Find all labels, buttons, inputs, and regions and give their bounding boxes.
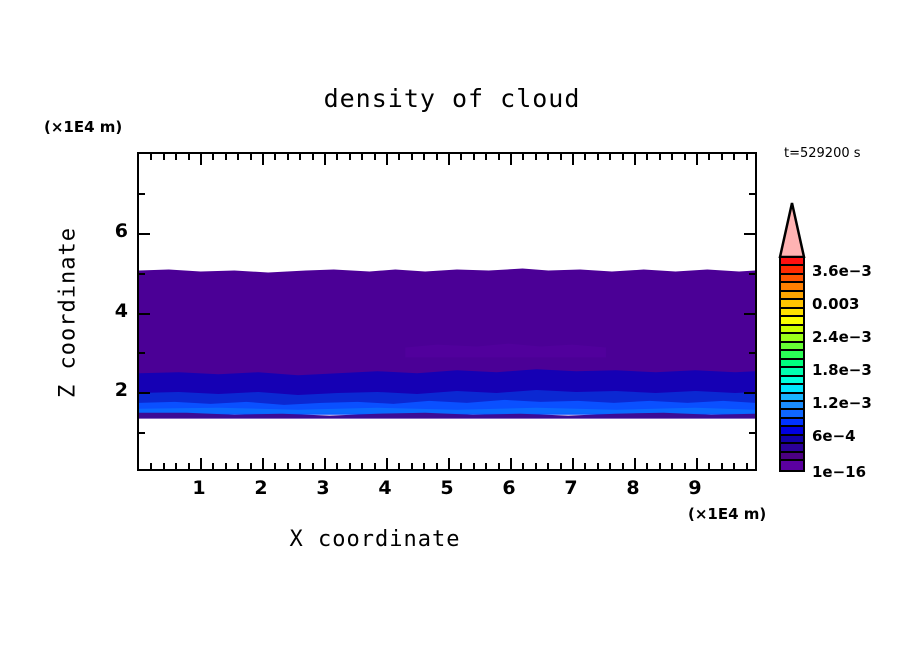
x-axis-title: X coordinate [0,527,750,552]
x-axis-minor-tick-top [584,154,586,160]
colorbar-segment [781,394,803,402]
colorbar-segment [781,317,803,325]
x-axis-minor-tick-top [237,154,239,160]
x-axis-minor-tick-top [684,154,686,160]
y-axis-tick [139,352,145,354]
y-axis-tick-right [749,432,755,434]
x-axis-units-label: (×1E4 m) [688,505,766,523]
x-axis-minor-tick-top [746,154,748,160]
x-axis-minor-tick [485,463,487,469]
x-axis-minor-tick-top [188,154,190,160]
y-axis-tick-label: 4 [98,300,128,322]
x-axis-tick-top [448,154,450,165]
colorbar-tick-label: 1e−16 [812,463,866,481]
x-axis-minor-tick [498,463,500,469]
x-axis-minor-tick [560,463,562,469]
x-axis-minor-tick [225,463,227,469]
colorbar-segment [781,453,803,461]
x-axis-minor-tick [336,463,338,469]
x-axis-minor-tick-top [312,154,314,160]
colorbar-segment [781,402,803,410]
x-axis-minor-tick [299,463,301,469]
x-axis-tick [262,458,264,469]
colorbar-tick-label: 1.8e−3 [812,361,872,379]
x-axis-minor-tick-top [411,154,413,160]
x-axis-minor-tick [646,463,648,469]
x-axis-minor-tick-top [473,154,475,160]
colorbar-tick-label: 6e−4 [812,427,856,445]
x-axis-tick [386,458,388,469]
colorbar-segment [781,410,803,418]
x-axis-tick-top [696,154,698,165]
colorbar-arrow-top [777,202,807,258]
colorbar-segment [781,419,803,427]
x-axis-minor-tick [584,463,586,469]
colorbar-segment [781,326,803,334]
x-axis-tick-label: 1 [184,477,214,499]
x-axis-minor-tick [473,463,475,469]
x-axis-minor-tick [349,463,351,469]
y-axis-tick-right [744,233,755,235]
y-axis-tick [139,193,145,195]
x-axis-minor-tick-top [175,154,177,160]
x-axis-minor-tick [708,463,710,469]
x-axis-minor-tick-top [733,154,735,160]
x-axis-minor-tick-top [708,154,710,160]
x-axis-minor-tick-top [349,154,351,160]
x-axis-tick-label: 5 [432,477,462,499]
colorbar-segment [781,351,803,359]
x-axis-tick-label: 3 [308,477,338,499]
x-axis-minor-tick [423,463,425,469]
x-axis-minor-tick-top [287,154,289,160]
x-axis-tick-top [262,154,264,165]
x-axis-minor-tick [684,463,686,469]
colorbar-segment [781,385,803,393]
colorbar-segment [781,283,803,291]
x-axis-minor-tick-top [522,154,524,160]
y-axis-tick-right [749,193,755,195]
x-axis-minor-tick [150,463,152,469]
x-axis-minor-tick [398,463,400,469]
x-axis-minor-tick-top [274,154,276,160]
colorbar-tick-label: 1.2e−3 [812,394,872,412]
x-axis-tick-top [324,154,326,165]
x-axis-tick [448,458,450,469]
x-axis-minor-tick [671,463,673,469]
x-axis-minor-tick-top [299,154,301,160]
x-axis-minor-tick [622,463,624,469]
x-axis-minor-tick-top [225,154,227,160]
x-axis-minor-tick [659,463,661,469]
colorbar-segment [781,368,803,376]
x-axis-minor-tick-top [361,154,363,160]
x-axis-tick [572,458,574,469]
colorbar-segment [781,377,803,385]
y-axis-tick-label: 6 [98,220,128,242]
x-axis-tick-label: 2 [246,477,276,499]
y-axis-tick [139,273,145,275]
x-axis-minor-tick [237,463,239,469]
colorbar-segment [781,266,803,274]
x-axis-tick-label: 6 [494,477,524,499]
colorbar-segment [781,292,803,300]
x-axis-tick [634,458,636,469]
colorbar-segment [781,275,803,283]
x-axis-minor-tick [312,463,314,469]
y-axis-tick-right [744,313,755,315]
y-axis-tick [139,432,145,434]
x-axis-minor-tick [522,463,524,469]
x-axis-tick [200,458,202,469]
x-axis-minor-tick-top [671,154,673,160]
x-axis-minor-tick [374,463,376,469]
page-title: density of cloud [0,84,904,113]
time-annotation: t=529200 s [784,146,861,161]
colorbar-segment [781,461,803,469]
y-axis-tick [139,313,150,315]
x-axis-minor-tick-top [398,154,400,160]
x-axis-tick-label: 7 [556,477,586,499]
x-axis-minor-tick [274,463,276,469]
x-axis-tick [696,458,698,469]
x-axis-tick-label: 9 [680,477,710,499]
colorbar-tick-label: 3.6e−3 [812,262,872,280]
x-axis-minor-tick-top [460,154,462,160]
x-axis-minor-tick [250,463,252,469]
x-axis-minor-tick-top [609,154,611,160]
x-axis-tick-top [572,154,574,165]
x-axis-minor-tick-top [336,154,338,160]
y-axis-tick [139,392,150,394]
x-axis-minor-tick [361,463,363,469]
x-axis-minor-tick [175,463,177,469]
x-axis-tick [510,458,512,469]
x-axis-minor-tick-top [622,154,624,160]
x-axis-minor-tick-top [250,154,252,160]
x-axis-minor-tick [411,463,413,469]
colorbar-segment [781,436,803,444]
x-axis-minor-tick [535,463,537,469]
x-axis-minor-tick [212,463,214,469]
colorbar-segment [781,334,803,342]
y-axis-tick-right [749,273,755,275]
x-axis-tick-top [200,154,202,165]
x-axis-tick-top [634,154,636,165]
x-axis-tick-top [510,154,512,165]
x-axis-tick [324,458,326,469]
x-axis-minor-tick [460,463,462,469]
x-axis-minor-tick [287,463,289,469]
x-axis-minor-tick-top [560,154,562,160]
x-axis-minor-tick-top [498,154,500,160]
colorbar-segment [781,360,803,368]
x-axis-minor-tick-top [721,154,723,160]
y-axis-units-label: (×1E4 m) [44,118,122,136]
x-axis-minor-tick [721,463,723,469]
y-axis-tick-label: 2 [98,379,128,401]
colorbar-tick-label: 0.003 [812,295,859,313]
cloud-density-field [139,154,755,469]
colorbar-segment [781,427,803,435]
x-axis-minor-tick [163,463,165,469]
x-axis-minor-tick [188,463,190,469]
y-axis-tick-right [749,352,755,354]
x-axis-minor-tick-top [163,154,165,160]
x-axis-minor-tick-top [646,154,648,160]
x-axis-minor-tick-top [485,154,487,160]
y-axis-tick-right [744,392,755,394]
x-axis-minor-tick [547,463,549,469]
x-axis-minor-tick [609,463,611,469]
y-axis-tick [139,233,150,235]
x-axis-minor-tick-top [423,154,425,160]
x-axis-minor-tick-top [535,154,537,160]
x-axis-minor-tick [746,463,748,469]
x-axis-minor-tick-top [212,154,214,160]
y-axis-title: Z coordinate [56,203,81,423]
colorbar-segment [781,300,803,308]
x-axis-minor-tick-top [597,154,599,160]
x-axis-minor-tick [436,463,438,469]
plot-area[interactable] [137,152,757,471]
x-axis-minor-tick-top [547,154,549,160]
x-axis-minor-tick-top [150,154,152,160]
x-axis-tick-label: 8 [618,477,648,499]
colorbar-segment [781,444,803,452]
x-axis-minor-tick-top [436,154,438,160]
x-axis-minor-tick-top [659,154,661,160]
colorbar-segment [781,309,803,317]
x-axis-tick-label: 4 [370,477,400,499]
colorbar[interactable] [779,256,805,472]
x-axis-minor-tick [597,463,599,469]
x-axis-tick-top [386,154,388,165]
x-axis-minor-tick-top [374,154,376,160]
colorbar-tick-label: 2.4e−3 [812,328,872,346]
colorbar-segment [781,258,803,266]
colorbar-segment [781,343,803,351]
x-axis-minor-tick [733,463,735,469]
